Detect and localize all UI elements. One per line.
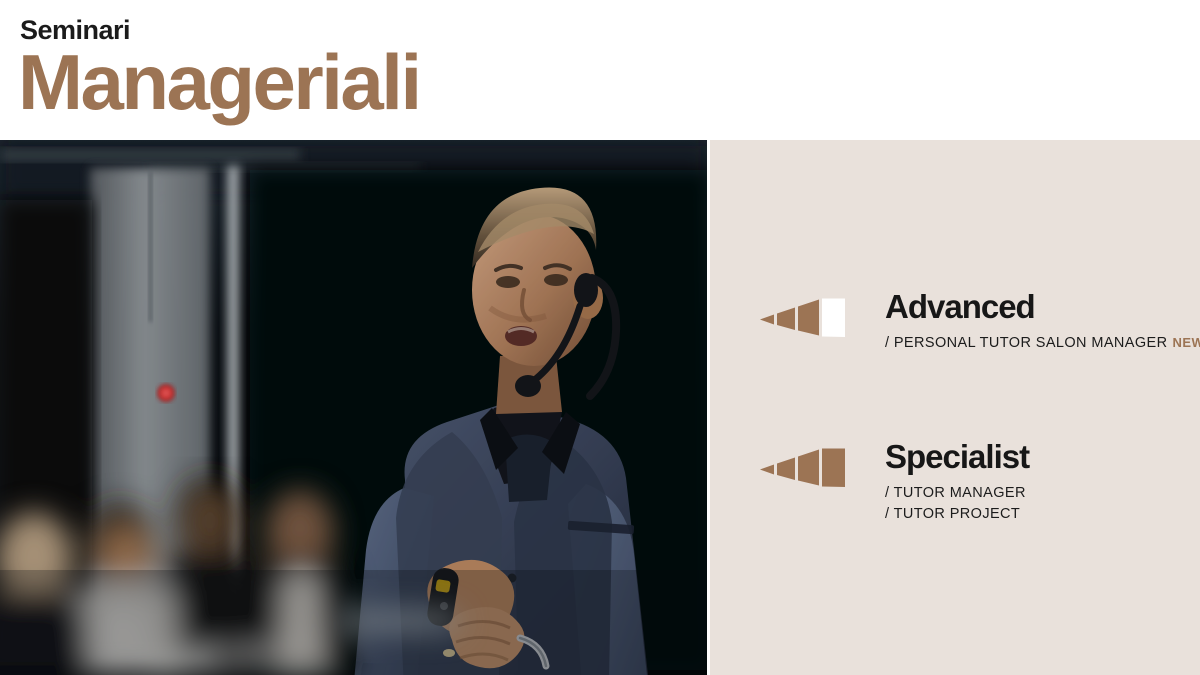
tier-title-specialist: Specialist — [885, 440, 1185, 475]
advanced-text-column: Advanced / PERSONAL TUTOR SALON MANAGERN… — [885, 290, 1185, 354]
speaker-photo — [0, 140, 707, 675]
advanced-arrow-svg — [758, 298, 848, 338]
status-badge: NEW — [1172, 335, 1200, 350]
course-label: / TUTOR MANAGER — [885, 483, 1185, 504]
specialist-text-column: Specialist / TUTOR MANAGER / TUTOR PROJE… — [885, 440, 1185, 525]
page-title: Manageriali — [18, 43, 420, 121]
slide-root: Seminari Manageriali — [0, 0, 1200, 675]
slide-header: Seminari Manageriali — [0, 0, 1200, 140]
arrow-left-4-segments-icon — [758, 298, 848, 338]
speaker-photo-illustration — [0, 140, 707, 675]
tiers-panel: Advanced / PERSONAL TUTOR SALON MANAGERN… — [710, 140, 1200, 675]
course-label: / TUTOR PROJECT — [885, 504, 1185, 525]
course-label: / PERSONAL TUTOR SALON MANAGER — [885, 335, 1167, 351]
tier-course-list-specialist: / TUTOR MANAGER / TUTOR PROJECT — [885, 483, 1185, 525]
specialist-arrow-svg — [758, 448, 848, 488]
tier-course-list-advanced: / PERSONAL TUTOR SALON MANAGERNEW — [885, 333, 1185, 354]
arrow-left-4-segments-icon — [758, 448, 848, 488]
tier-title-advanced: Advanced — [885, 290, 1185, 325]
